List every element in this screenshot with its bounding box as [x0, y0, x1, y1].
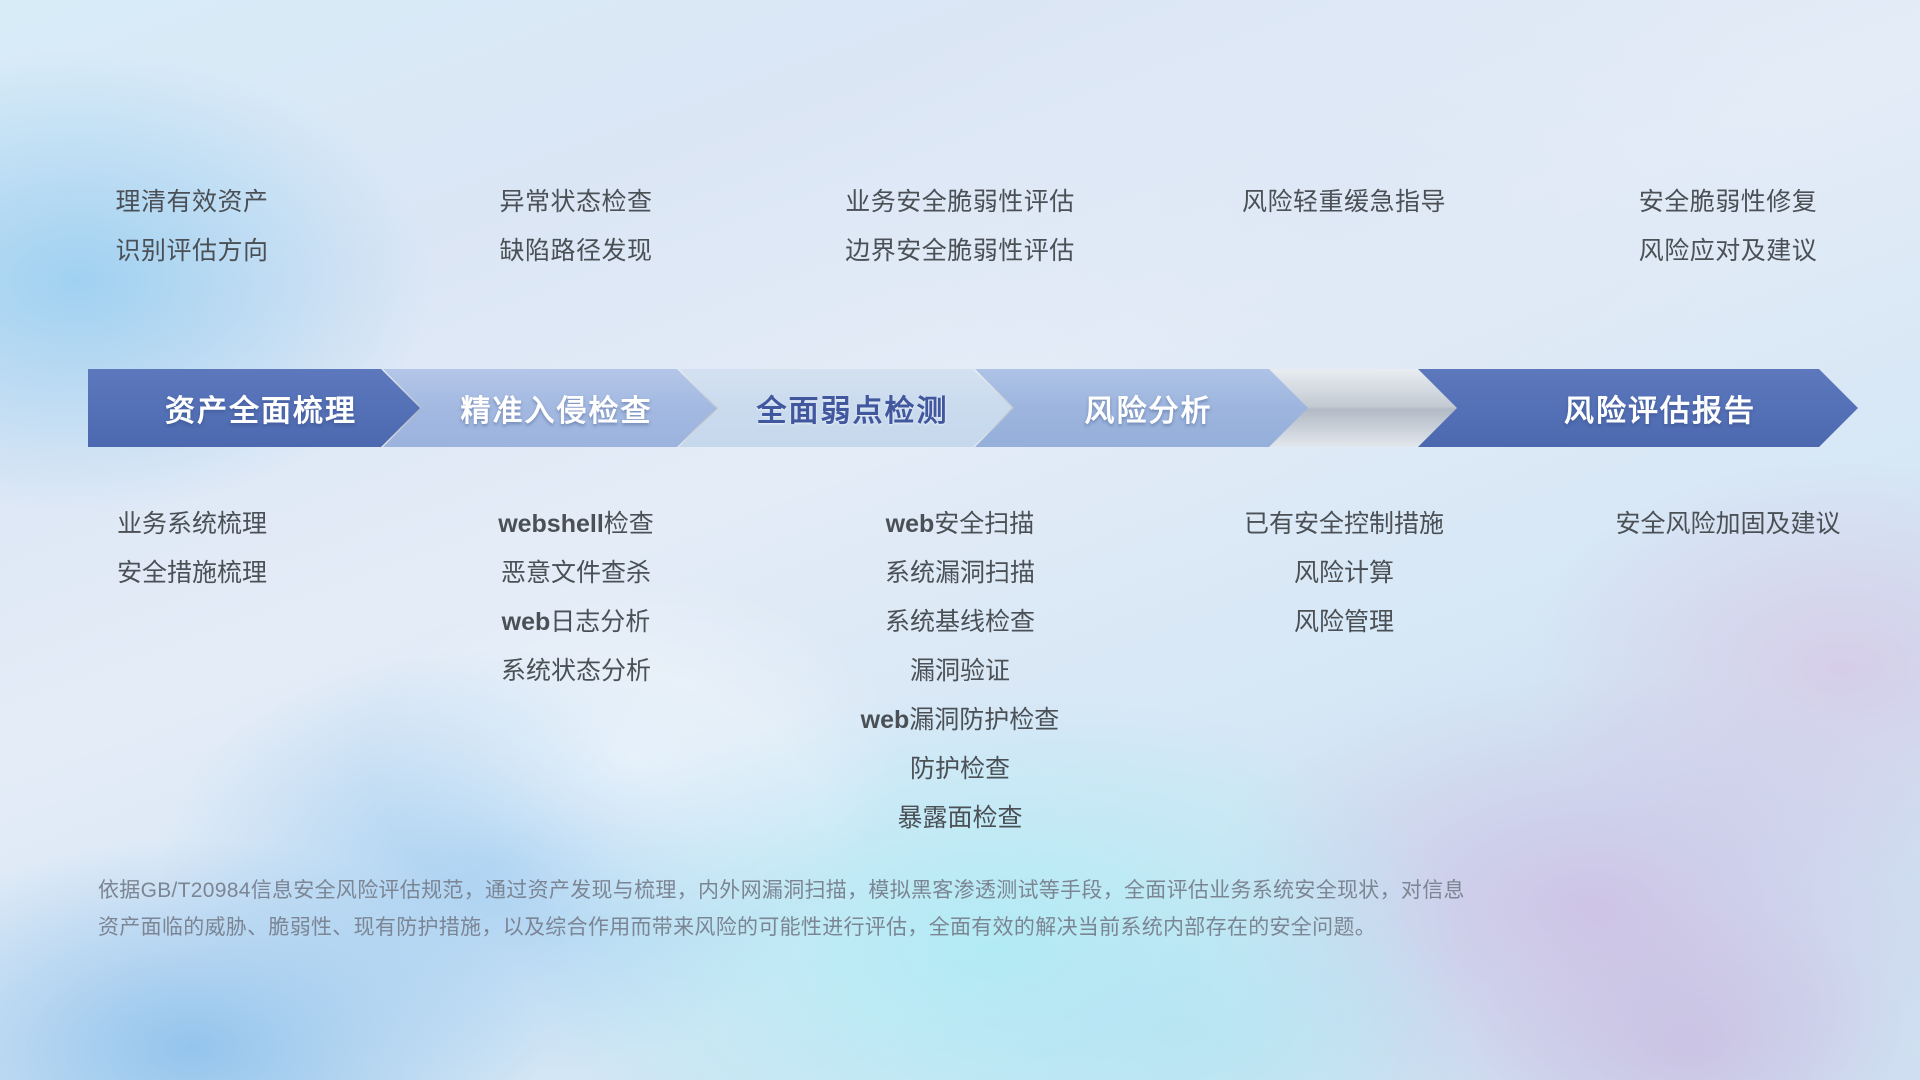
list-item: 风险管理	[1152, 598, 1536, 647]
process-step-label: 资产全面梳理	[88, 386, 420, 430]
list-item: 系统漏洞扫描	[768, 549, 1152, 598]
process-step-label: 风险分析	[975, 386, 1308, 430]
footer-line-1: 依据GB/T20984信息安全风险评估规范，通过资产发现与梳理，内外网漏洞扫描，…	[98, 872, 1658, 909]
bottom-list-column-4: 已有安全控制措施 风险计算 风险管理	[1152, 500, 1536, 647]
top-note-line: 业务安全脆弱性评估	[768, 178, 1152, 227]
process-chevron-band: 资产全面梳理 精准入侵检查 全面弱点检测 风险分析 风险评估报告	[88, 369, 1858, 447]
list-item-rest: 日志分析	[550, 608, 650, 636]
list-item: 业务系统梳理	[0, 500, 384, 549]
slide-canvas: 理清有效资产 识别评估方向 异常状态检查 缺陷路径发现 业务安全脆弱性评估 边界…	[0, 0, 1920, 1080]
bottom-list-column-1: 业务系统梳理 安全措施梳理	[0, 500, 384, 598]
bottom-list-column-3: web安全扫描 系统漏洞扫描 系统基线检查 漏洞验证 web漏洞防护检查 防护检…	[768, 500, 1152, 843]
process-step-1[interactable]: 资产全面梳理	[88, 369, 420, 447]
list-item-rest: 漏洞防护检查	[909, 706, 1059, 734]
list-item: web安全扫描	[768, 500, 1152, 549]
top-note-column-3: 业务安全脆弱性评估 边界安全脆弱性评估	[768, 178, 1152, 288]
top-note-line: 风险轻重缓急指导	[1152, 178, 1536, 227]
list-item: webshell检查	[384, 500, 768, 549]
process-step-label: 全面弱点检测	[679, 386, 1012, 430]
list-item: 风险计算	[1152, 549, 1536, 598]
top-note-line: 识别评估方向	[0, 227, 384, 276]
top-note-line: 风险应对及建议	[1536, 227, 1920, 276]
bottom-list-column-5: 安全风险加固及建议	[1536, 500, 1920, 549]
list-item: 防护检查	[768, 745, 1152, 794]
list-item: 安全措施梳理	[0, 549, 384, 598]
process-step-label: 风险评估报告	[1418, 386, 1858, 430]
top-note-column-1: 理清有效资产 识别评估方向	[0, 178, 384, 288]
list-item-emphasis: webshell	[498, 510, 604, 538]
bottom-lists-row: 业务系统梳理 安全措施梳理 webshell检查 恶意文件查杀 web日志分析 …	[0, 500, 1920, 843]
list-item: 已有安全控制措施	[1152, 500, 1536, 549]
top-note-column-4: 风险轻重缓急指导	[1152, 178, 1536, 288]
process-step-3[interactable]: 全面弱点检测	[679, 369, 1012, 447]
list-item: 暴露面检查	[768, 794, 1152, 843]
list-item-emphasis: web	[886, 510, 935, 538]
top-note-line: 异常状态检查	[384, 178, 768, 227]
list-item: web漏洞防护检查	[768, 696, 1152, 745]
process-step-2[interactable]: 精准入侵检查	[383, 369, 716, 447]
top-note-column-5: 安全脆弱性修复 风险应对及建议	[1536, 178, 1920, 288]
list-item: 系统状态分析	[384, 647, 768, 696]
list-item-emphasis: web	[502, 608, 551, 636]
list-item-rest: 安全扫描	[934, 510, 1034, 538]
list-item: 恶意文件查杀	[384, 549, 768, 598]
top-note-line: 理清有效资产	[0, 178, 384, 227]
list-item: 漏洞验证	[768, 647, 1152, 696]
top-note-line: 安全脆弱性修复	[1536, 178, 1920, 227]
top-note-column-2: 异常状态检查 缺陷路径发现	[384, 178, 768, 288]
list-item: 系统基线检查	[768, 598, 1152, 647]
list-item-rest: 检查	[604, 510, 654, 538]
process-step-5[interactable]: 风险评估报告	[1418, 369, 1858, 447]
list-item-emphasis: web	[861, 706, 910, 734]
list-item: 安全风险加固及建议	[1536, 500, 1920, 549]
footer-description: 依据GB/T20984信息安全风险评估规范，通过资产发现与梳理，内外网漏洞扫描，…	[98, 872, 1658, 946]
process-step-label: 精准入侵检查	[383, 386, 716, 430]
bottom-list-column-2: webshell检查 恶意文件查杀 web日志分析 系统状态分析	[384, 500, 768, 696]
process-step-4[interactable]: 风险分析	[975, 369, 1308, 447]
top-note-line: 边界安全脆弱性评估	[768, 227, 1152, 276]
top-notes-row: 理清有效资产 识别评估方向 异常状态检查 缺陷路径发现 业务安全脆弱性评估 边界…	[0, 178, 1920, 288]
list-item: web日志分析	[384, 598, 768, 647]
footer-line-2: 资产面临的威胁、脆弱性、现有防护措施，以及综合作用而带来风险的可能性进行评估，全…	[98, 909, 1658, 946]
top-note-line: 缺陷路径发现	[384, 227, 768, 276]
